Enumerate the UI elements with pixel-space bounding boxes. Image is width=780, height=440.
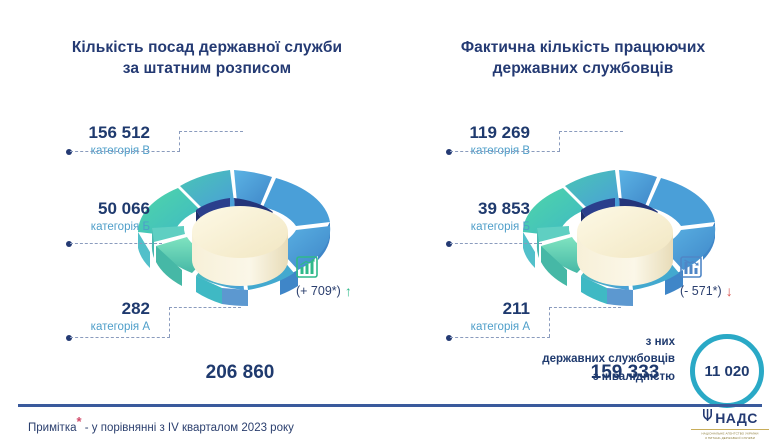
callout-value: 156 512 — [20, 124, 150, 142]
delta-value-right: (- 571*) — [680, 284, 722, 298]
disability-value: 11 020 — [704, 363, 749, 380]
disability-note-line2: державних службовців — [542, 351, 675, 368]
footer-divider — [18, 404, 762, 407]
nads-logo-tagline-line2: З ПИТАНЬ ДЕРЖАВНОЇ СЛУЖБИ — [682, 436, 779, 440]
footer-note: Примітка* - у порівнянні з IV кварталом … — [28, 414, 294, 434]
nads-logo-word: НАДС — [715, 410, 757, 426]
callout-category-v-right: 119 269 категорія В — [400, 124, 530, 159]
callout-value: 119 269 — [400, 124, 530, 142]
disability-note: з них державних службовців з інвалідніст… — [542, 334, 675, 386]
leader-segment — [559, 131, 623, 132]
callout-category-b-left: 50 066 категорія Б — [20, 200, 150, 235]
callout-category-v-left: 156 512 категорія В — [20, 124, 150, 159]
footer-note-rest: - у порівнянні з IV кварталом 2023 року — [85, 422, 294, 434]
footer-note-prefix: Примітка — [28, 422, 77, 434]
delta-indicator-right: (- 571*) ↓ — [680, 256, 733, 298]
callout-category-a-right: 211 категорія А — [400, 300, 530, 335]
bar-chart-down-icon — [680, 256, 733, 283]
callout-category-a-left: 282 категорія А — [20, 300, 150, 335]
callout-value: 39 853 — [400, 200, 530, 218]
arrow-up-icon: ↑ — [345, 284, 352, 298]
arrow-down-icon: ↓ — [726, 284, 733, 298]
page-title-right: Фактична кількість працюючих державних с… — [398, 38, 768, 80]
panel-actual-employees: Фактична кількість працюючих державних с… — [390, 0, 780, 400]
leader-dot — [446, 335, 452, 341]
delta-row-left: (+ 709*) ↑ — [296, 284, 352, 298]
delta-value-left: (+ 709*) — [296, 284, 341, 298]
nads-logo: НАДС НАЦІОНАЛЬНЕ АГЕНТСТВО УКРАЇНИ З ПИТ… — [688, 408, 772, 440]
leader-dot — [66, 241, 72, 247]
leader-segment — [179, 131, 243, 132]
panel-staff-positions: Кількість посад державної служби за штат… — [0, 0, 390, 400]
leader-segment — [549, 307, 621, 308]
delta-indicator-left: (+ 709*) ↑ — [296, 256, 352, 298]
page-title-left: Кількість посад державної служби за штат… — [22, 38, 392, 80]
title-left-line2: за штатним розписом — [22, 59, 392, 80]
leader-segment — [559, 131, 560, 151]
leader-segment — [70, 151, 180, 152]
callout-label: категорія А — [400, 320, 530, 335]
callout-value: 211 — [400, 300, 530, 318]
callout-label: категорія Б — [400, 220, 530, 235]
nads-logo-tagline: НАЦІОНАЛЬНЕ АГЕНТСТВО УКРАЇНИ З ПИТАНЬ Д… — [682, 432, 779, 440]
leader-dot — [446, 241, 452, 247]
callout-value: 50 066 — [20, 200, 150, 218]
leader-segment — [179, 131, 180, 151]
nads-logo-lockup: НАДС — [688, 408, 772, 428]
disability-note-line3: з інвалідністю — [542, 369, 675, 386]
title-right-line2: державних службовців — [398, 59, 768, 80]
leader-segment — [70, 337, 170, 338]
total-value-left: 206 860 — [178, 362, 302, 384]
title-right-line1: Фактична кількість працюючих — [398, 38, 768, 59]
leader-segment — [169, 307, 241, 308]
infographic-page: Кількість посад державної служби за штат… — [0, 0, 780, 440]
title-left-line1: Кількість посад державної служби — [22, 38, 392, 59]
leader-segment — [70, 243, 162, 244]
footnote-star: * — [77, 414, 82, 429]
callout-category-b-right: 39 853 категорія Б — [400, 200, 530, 235]
trident-icon — [702, 408, 713, 428]
leader-dot — [66, 335, 72, 341]
disability-block: з них державних службовців з інвалідніст… — [540, 330, 775, 410]
disability-value-ring: 11 020 — [690, 334, 764, 408]
leader-dot — [446, 149, 452, 155]
leader-segment — [450, 243, 542, 244]
leader-segment — [169, 307, 170, 337]
callout-value: 282 — [20, 300, 150, 318]
leader-segment — [450, 151, 560, 152]
delta-row-right: (- 571*) ↓ — [680, 284, 733, 298]
nads-logo-rule — [691, 429, 769, 430]
callout-label: категорія Б — [20, 220, 150, 235]
bar-chart-up-icon — [296, 256, 352, 283]
callout-label: категорія А — [20, 320, 150, 335]
leader-segment — [450, 337, 550, 338]
disability-note-line1: з них — [542, 334, 675, 351]
leader-dot — [66, 149, 72, 155]
